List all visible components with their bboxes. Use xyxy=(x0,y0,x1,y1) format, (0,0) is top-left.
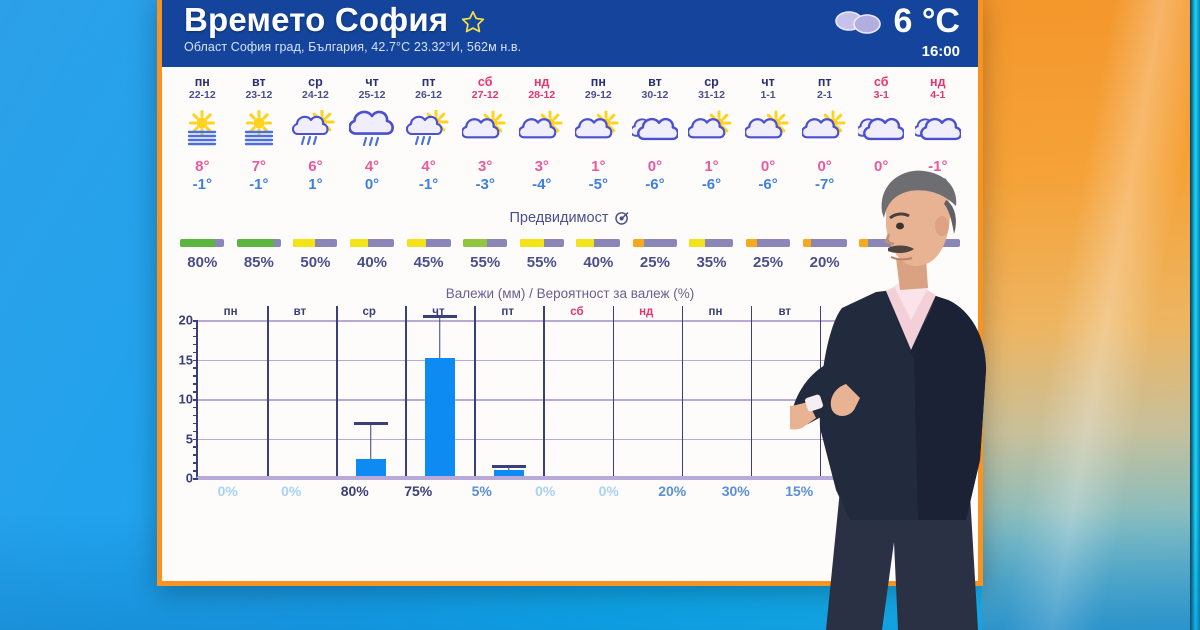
predictability-bar-fill xyxy=(350,239,368,247)
chart-day-label-5: пт xyxy=(473,306,542,318)
temp-high: 7° xyxy=(231,158,288,176)
forecast-day-6[interactable]: сб27-12 xyxy=(457,75,514,102)
weather-icon-cell-8 xyxy=(570,108,627,154)
predictability-value: 25% xyxy=(753,254,783,271)
chart-day-label-8: пн xyxy=(681,306,750,318)
predictability-bar-track xyxy=(576,239,620,247)
predictability-cell-7: 55% xyxy=(513,239,570,271)
day-of-week: пн xyxy=(570,75,627,89)
chart-day-label-2: вт xyxy=(265,306,334,318)
chart-day-label-7: нд xyxy=(612,306,681,318)
forecast-day-3[interactable]: ср24-12 xyxy=(287,75,344,102)
weather-icon-cell-14 xyxy=(910,108,967,154)
day-of-week: ср xyxy=(287,75,344,89)
predictability-value: 40% xyxy=(583,254,613,271)
temp-low: -6° xyxy=(627,176,684,194)
chart-bar-column-4[interactable] xyxy=(405,318,474,476)
temperature-cell-9: 0°-6° xyxy=(627,158,684,194)
current-temperature: 6 °C xyxy=(893,3,960,39)
predictability-bar-fill xyxy=(463,239,487,247)
weather-icon-cell-9 xyxy=(627,108,684,154)
chart-bar-column-7[interactable] xyxy=(613,318,682,476)
temp-low: 0° xyxy=(344,176,401,194)
temp-high: 0° xyxy=(627,158,684,176)
predictability-bar-track xyxy=(520,239,564,247)
predictability-bar-track xyxy=(689,239,733,247)
temp-low: -6° xyxy=(740,176,797,194)
forecast-day-13[interactable]: сб3-1 xyxy=(853,75,910,102)
forecast-day-9[interactable]: вт30-12 xyxy=(627,75,684,102)
predictability-bar-track xyxy=(407,239,451,247)
chart-y-tick-label: 5 xyxy=(186,431,193,446)
chart-probability-7: 0% xyxy=(577,483,641,499)
temperature-cell-10: 1°-6° xyxy=(683,158,740,194)
day-of-week: сб xyxy=(853,75,910,89)
predictability-bar-fill xyxy=(746,239,757,247)
temperature-cell-7: 3°-4° xyxy=(513,158,570,194)
chart-precip-bar[interactable] xyxy=(425,358,455,477)
temp-low: -1° xyxy=(174,176,231,194)
temp-low: -1° xyxy=(231,176,288,194)
current-time: 16:00 xyxy=(922,43,960,60)
day-date: 23-12 xyxy=(231,89,288,102)
panel-header: Времето София Област София град, Българи… xyxy=(162,0,978,67)
predictability-value: 40% xyxy=(357,254,387,271)
weather-icon-cell-12 xyxy=(796,108,853,154)
sun-cloud-icon xyxy=(575,110,621,152)
temp-high: 1° xyxy=(570,158,627,176)
day-of-week: ср xyxy=(683,75,740,89)
chart-day-label-1: пн xyxy=(196,306,265,318)
forecast-day-4[interactable]: чт25-12 xyxy=(344,75,401,102)
day-of-week: пн xyxy=(174,75,231,89)
day-date: 30-12 xyxy=(627,89,684,102)
page-title: Времето София xyxy=(184,1,448,39)
chart-bar-column-3[interactable] xyxy=(336,318,405,476)
predictability-value: 50% xyxy=(300,254,330,271)
predictability-bar-fill xyxy=(237,239,274,247)
day-of-week: сб xyxy=(457,75,514,89)
cloudy-icon xyxy=(632,110,678,152)
predictability-cell-4: 40% xyxy=(344,239,401,271)
day-date: 2-1 xyxy=(796,89,853,102)
temp-high: 6° xyxy=(287,158,344,176)
chart-bar-column-1[interactable] xyxy=(198,318,267,476)
predictability-bar-fill xyxy=(576,239,594,247)
day-date: 4-1 xyxy=(910,89,967,102)
sun-cloud-rain-icon xyxy=(406,110,452,152)
temperature-cell-3: 6°1° xyxy=(287,158,344,194)
sun-cloud-icon xyxy=(802,110,848,152)
predictability-bar-fill xyxy=(520,239,544,247)
day-date: 3-1 xyxy=(853,89,910,102)
weather-icon-cell-5 xyxy=(400,108,457,154)
day-of-week: чт xyxy=(344,75,401,89)
chart-probability-4: 75% xyxy=(387,483,451,499)
temp-low: -1° xyxy=(400,176,457,194)
temperature-cell-8: 1°-5° xyxy=(570,158,627,194)
chart-probability-3: 80% xyxy=(323,483,387,499)
chart-probability-5: 5% xyxy=(450,483,514,499)
temp-low: -3° xyxy=(457,176,514,194)
weather-icon-cell-2 xyxy=(231,108,288,154)
temp-high: 8° xyxy=(174,158,231,176)
chart-whisker-cap xyxy=(492,465,526,468)
predictability-bar-track xyxy=(746,239,790,247)
cloudy-icon xyxy=(915,110,961,152)
cloudy-icon xyxy=(858,110,904,152)
temperature-cell-11: 0°-6° xyxy=(740,158,797,194)
chart-whisker-cap xyxy=(423,315,457,318)
forecast-day-12[interactable]: пт2-1 xyxy=(796,75,853,102)
day-date: 27-12 xyxy=(457,89,514,102)
day-date: 24-12 xyxy=(287,89,344,102)
predictability-bar-track xyxy=(293,239,337,247)
temperature-cell-5: 4°-1° xyxy=(400,158,457,194)
predictability-bar-fill xyxy=(293,239,315,247)
weather-icon-cell-4 xyxy=(344,108,401,154)
temp-low: -4° xyxy=(513,176,570,194)
day-of-week: нд xyxy=(513,75,570,89)
temp-high: 1° xyxy=(683,158,740,176)
sun-cloud-rain-icon xyxy=(292,110,338,152)
temp-high: 3° xyxy=(457,158,514,176)
day-date: 22-12 xyxy=(174,89,231,102)
forecast-icons-row xyxy=(174,108,966,154)
day-of-week: чт xyxy=(740,75,797,89)
weather-icon-cell-6 xyxy=(457,108,514,154)
forecast-day-7[interactable]: нд28-12 xyxy=(513,75,570,102)
sun-cloud-icon xyxy=(519,110,565,152)
weather-icon-cell-10 xyxy=(683,108,740,154)
chart-y-tick-label: 0 xyxy=(186,471,193,486)
temp-low: -6° xyxy=(683,176,740,194)
weather-icon-cell-3 xyxy=(287,108,344,154)
predictability-value: 80% xyxy=(187,254,217,271)
day-of-week: пт xyxy=(400,75,457,89)
predictability-value: 35% xyxy=(696,254,726,271)
day-date: 31-12 xyxy=(683,89,740,102)
day-date: 28-12 xyxy=(513,89,570,102)
chart-probability-9: 30% xyxy=(704,483,768,499)
forecast-day-2[interactable]: вт23-12 xyxy=(231,75,288,102)
chart-bar-column-8[interactable] xyxy=(682,318,751,476)
sun-fog-icon xyxy=(179,110,225,152)
chart-probability-8: 20% xyxy=(641,483,705,499)
current-conditions: 6 °C 16:00 xyxy=(833,3,960,60)
chart-y-tick-label: 15 xyxy=(179,352,193,367)
temp-high: 4° xyxy=(400,158,457,176)
chart-precip-bar[interactable] xyxy=(494,470,524,476)
temp-high: 3° xyxy=(513,158,570,176)
target-icon xyxy=(614,210,630,226)
sun-cloud-icon xyxy=(688,110,734,152)
temperature-cell-4: 4°0° xyxy=(344,158,401,194)
chart-day-label-3: ср xyxy=(335,306,404,318)
chart-whisker-cap xyxy=(354,422,388,425)
day-date: 29-12 xyxy=(570,89,627,102)
predictability-cell-10: 35% xyxy=(683,239,740,271)
chart-bar-column-5[interactable] xyxy=(474,318,543,476)
predictability-value: 45% xyxy=(414,254,444,271)
sun-fog-icon xyxy=(236,110,282,152)
chart-y-tick-label: 10 xyxy=(179,392,193,407)
day-date: 25-12 xyxy=(344,89,401,102)
day-of-week: нд xyxy=(910,75,967,89)
temp-low: -5° xyxy=(570,176,627,194)
forecast-day-5[interactable]: пт26-12 xyxy=(400,75,457,102)
predictability-cell-2: 85% xyxy=(231,239,288,271)
weather-icon-cell-1 xyxy=(174,108,231,154)
predictability-cell-1: 80% xyxy=(174,239,231,271)
cloudy-icon xyxy=(833,5,885,37)
chart-precip-bar[interactable] xyxy=(356,459,386,476)
chart-probability-6: 0% xyxy=(514,483,578,499)
temperature-cell-1: 8°-1° xyxy=(174,158,231,194)
predictability-cell-6: 55% xyxy=(457,239,514,271)
day-date: 1-1 xyxy=(740,89,797,102)
chart-bar-column-6[interactable] xyxy=(543,318,612,476)
day-of-week: вт xyxy=(627,75,684,89)
temp-low: 1° xyxy=(287,176,344,194)
predictability-bar-fill xyxy=(180,239,215,247)
presenter xyxy=(790,160,1030,630)
temperature-cell-2: 7°-1° xyxy=(231,158,288,194)
chart-minor-tick xyxy=(193,478,198,480)
day-of-week: пт xyxy=(796,75,853,89)
predictability-cell-5: 45% xyxy=(400,239,457,271)
weather-icon-cell-11 xyxy=(740,108,797,154)
forecast-day-11[interactable]: чт1-1 xyxy=(740,75,797,102)
weather-icon-cell-7 xyxy=(513,108,570,154)
predictability-cell-9: 25% xyxy=(627,239,684,271)
chart-y-tick-label: 20 xyxy=(179,313,193,328)
weather-icon-cell-13 xyxy=(853,108,910,154)
predictability-cell-8: 40% xyxy=(570,239,627,271)
predictability-value: 85% xyxy=(244,254,274,271)
predictability-cell-3: 50% xyxy=(287,239,344,271)
chart-probability-1: 0% xyxy=(196,483,260,499)
predictability-bar-track xyxy=(350,239,394,247)
forecast-day-8[interactable]: пн29-12 xyxy=(570,75,627,102)
cloud-rain-icon xyxy=(349,110,395,152)
day-date: 26-12 xyxy=(400,89,457,102)
day-of-week: вт xyxy=(231,75,288,89)
forecast-day-14[interactable]: нд4-1 xyxy=(910,75,967,102)
forecast-day-10[interactable]: ср31-12 xyxy=(683,75,740,102)
sun-cloud-icon xyxy=(462,110,508,152)
chart-probability-2: 0% xyxy=(260,483,324,499)
predictability-bar-fill xyxy=(689,239,704,247)
chart-bar-column-2[interactable] xyxy=(267,318,336,476)
predictability-bar-track xyxy=(180,239,224,247)
predictability-bar-fill xyxy=(407,239,427,247)
temperature-cell-6: 3°-3° xyxy=(457,158,514,194)
chart-day-label-6: сб xyxy=(542,306,611,318)
predictability-label: Предвидимост xyxy=(510,210,609,226)
predictability-bar-track xyxy=(463,239,507,247)
predictability-value: 25% xyxy=(640,254,670,271)
star-icon[interactable] xyxy=(460,9,486,35)
predictability-bar-track xyxy=(237,239,281,247)
temp-high: 0° xyxy=(740,158,797,176)
forecast-days-header: пн22-12вт23-12ср24-12чт25-12пт26-12сб27-… xyxy=(174,75,966,102)
predictability-value: 55% xyxy=(470,254,500,271)
temp-high: 4° xyxy=(344,158,401,176)
forecast-day-1[interactable]: пн22-12 xyxy=(174,75,231,102)
predictability-cell-11: 25% xyxy=(740,239,797,271)
predictability-bar-track xyxy=(633,239,677,247)
predictability-value: 55% xyxy=(527,254,557,271)
sun-cloud-icon xyxy=(745,110,791,152)
predictability-bar-fill xyxy=(633,239,644,247)
